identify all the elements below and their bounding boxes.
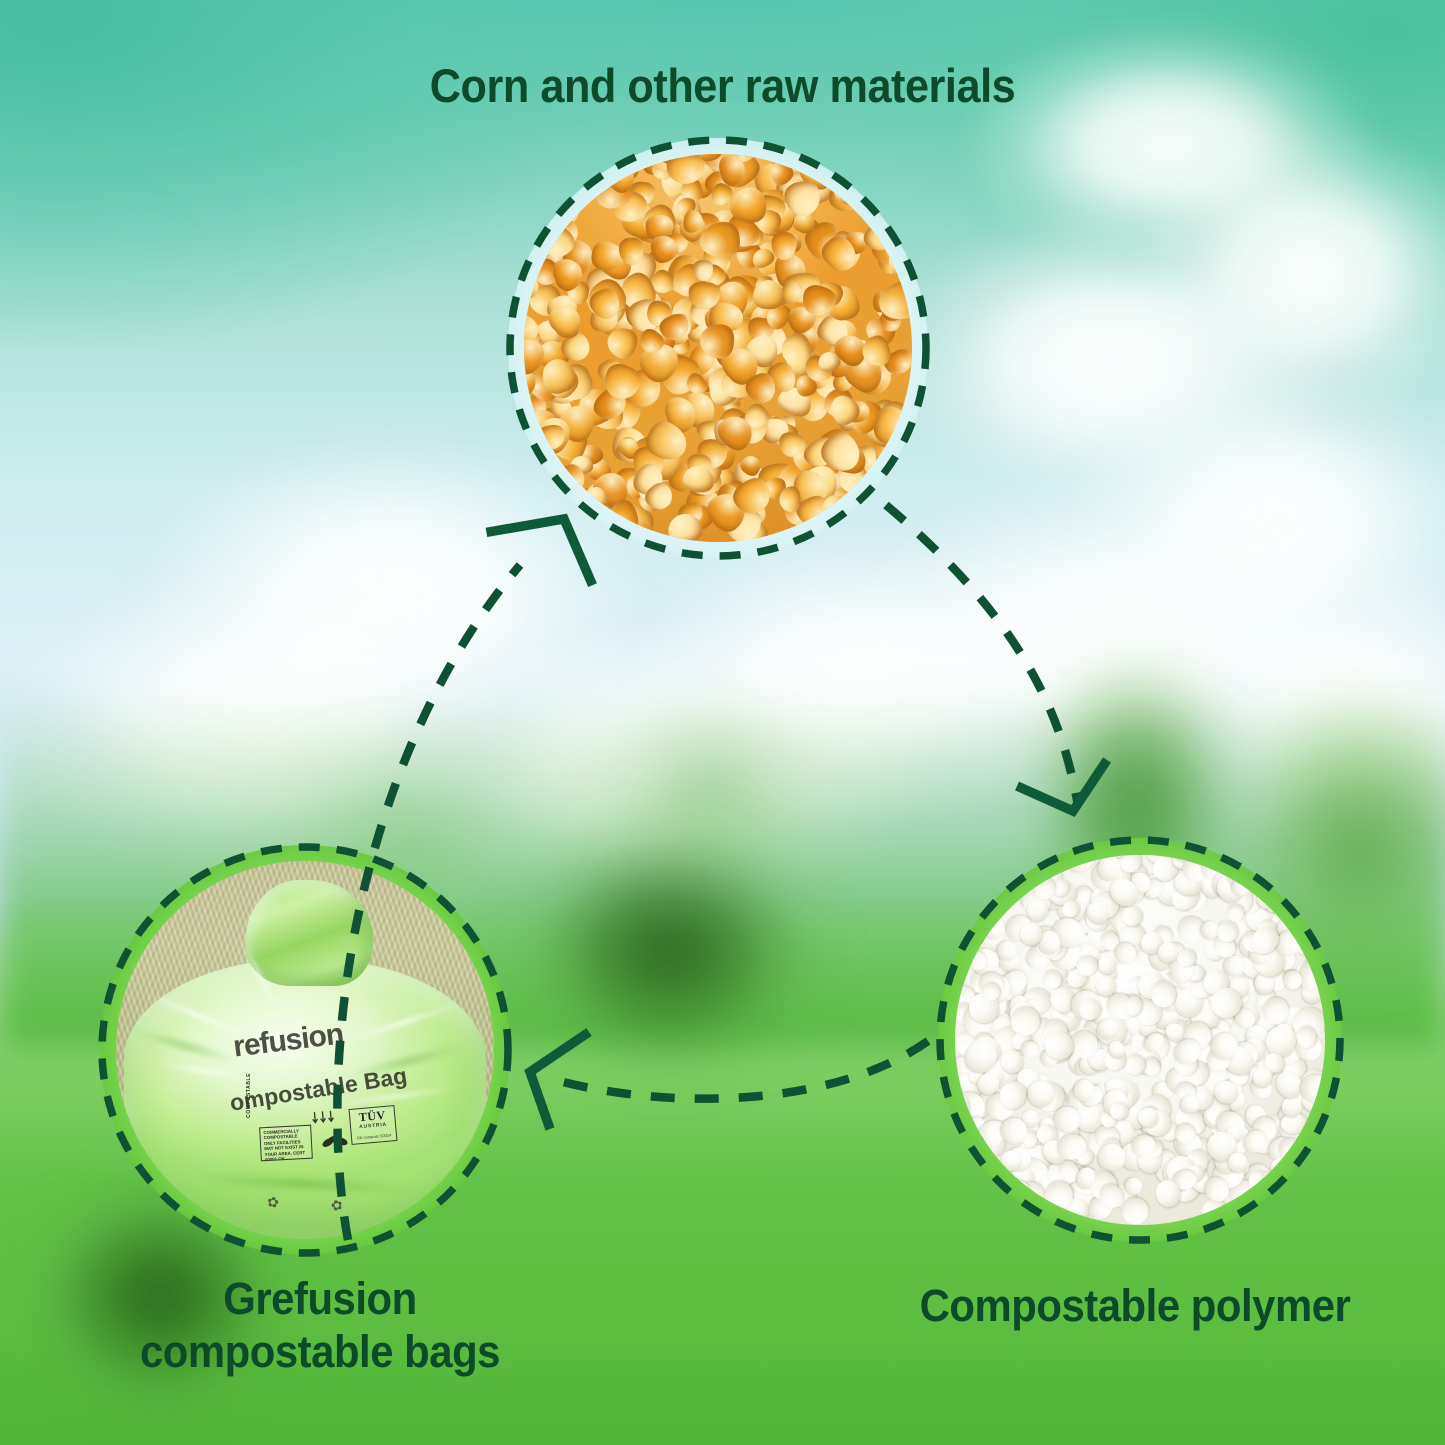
node-corn-raw-materials[interactable] bbox=[508, 138, 928, 558]
bags-photo: refusion ompostable Bag COMPOSTABLE COMM… bbox=[116, 861, 494, 1239]
polymer-photo bbox=[955, 855, 1325, 1225]
label-corn-and-other-raw-materials: Corn and other raw materials bbox=[58, 58, 1387, 113]
tuv-code: OK compost S0024 bbox=[352, 1132, 396, 1141]
corn-photo bbox=[524, 154, 912, 542]
corn-kernel bbox=[524, 422, 541, 447]
polymer-pellet bbox=[1098, 956, 1116, 974]
corn-kernel bbox=[779, 487, 800, 513]
corn-kernel bbox=[752, 280, 784, 311]
polymer-pellet bbox=[1176, 947, 1196, 966]
infographic-canvas: refusion ompostable Bag COMPOSTABLE COMM… bbox=[0, 0, 1445, 1445]
label-compostable-polymer: Compostable polymer bbox=[861, 1280, 1410, 1332]
node-compostable-polymer[interactable] bbox=[938, 838, 1342, 1242]
node-compostable-bags[interactable]: refusion ompostable Bag COMPOSTABLE COMM… bbox=[100, 845, 510, 1255]
green-bag-knot bbox=[245, 880, 374, 986]
tuv-austria-seal: TÜV AUSTRIA OK compost S0024 bbox=[349, 1105, 398, 1145]
seedling-logo-icon bbox=[319, 1132, 351, 1157]
label-grefusion-compostable-bags: Grefusion compostable bags bbox=[41, 1272, 599, 1378]
bag-vertical-compostable-text: COMPOSTABLE bbox=[246, 1073, 252, 1118]
bag-certification-note: COMMERCIALLY COMPOSTABLE ONLY FACILITIES… bbox=[259, 1124, 313, 1161]
polymer-pellet bbox=[1039, 855, 1067, 856]
polymer-pellet bbox=[1005, 1194, 1035, 1223]
